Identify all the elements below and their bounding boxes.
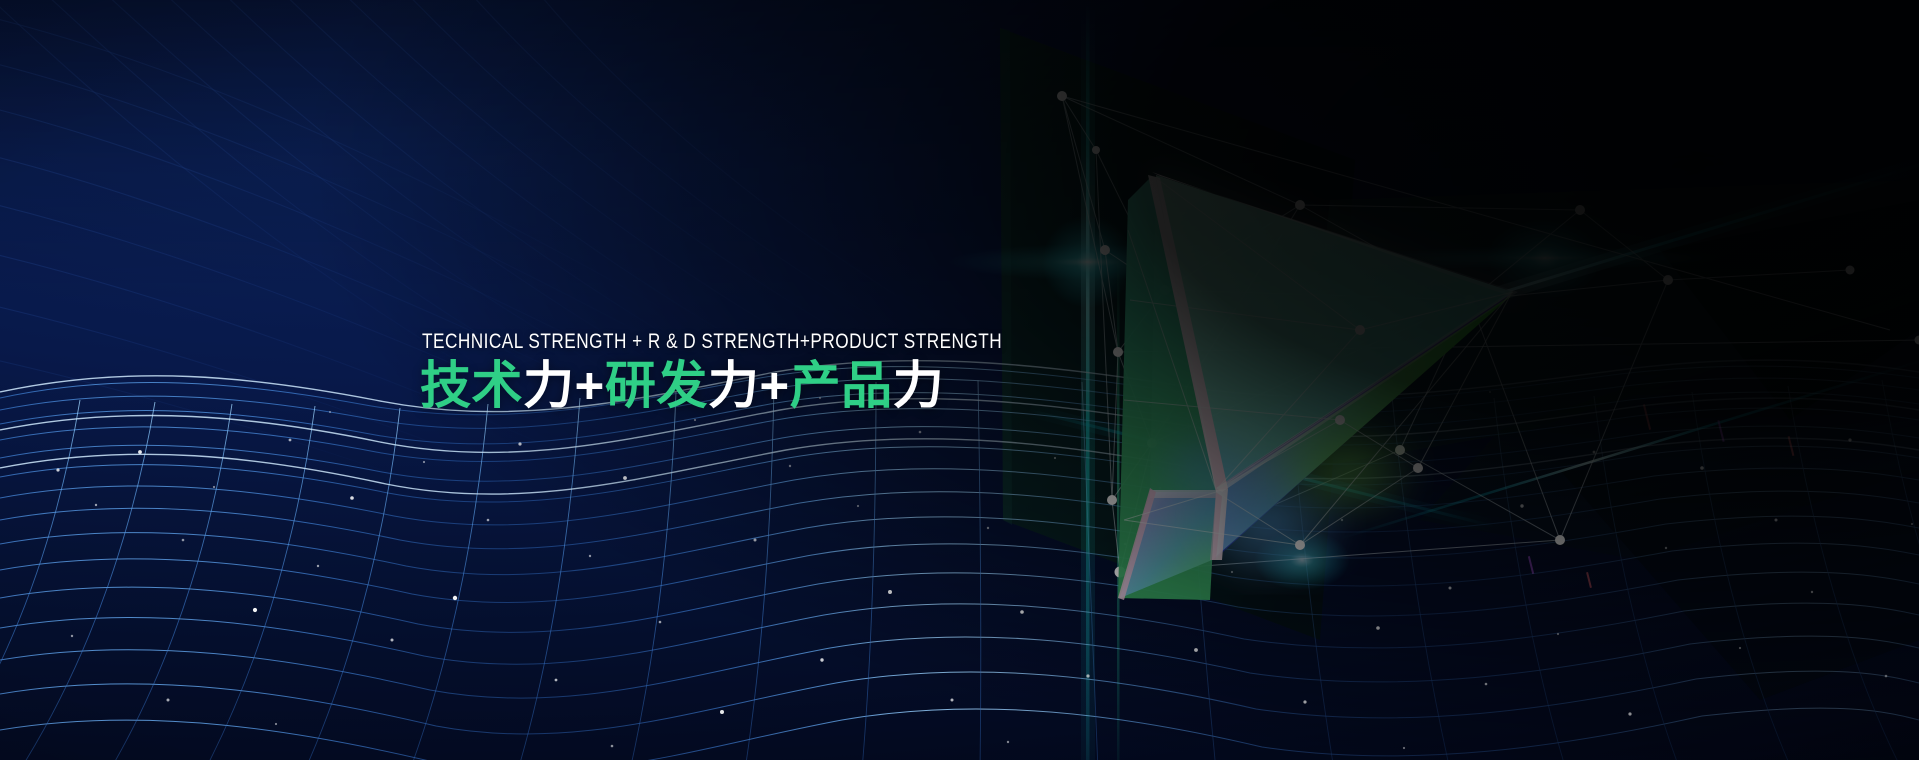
headline-segment-7: 力 — [893, 357, 945, 414]
headline-block: TECHNICAL STRENGTH + R & D STRENGTH+PROD… — [420, 330, 1280, 413]
headline-segment-5: + — [759, 357, 789, 414]
eyebrow-text: TECHNICAL STRENGTH + R & D STRENGTH+PROD… — [422, 330, 1108, 353]
headline-segment-3: 研发 — [605, 357, 708, 414]
headline-segment-6: 产品 — [790, 357, 893, 414]
page-title: 技术力+研发力+产品力 — [420, 359, 1280, 413]
headline-segment-1: 力 — [523, 357, 575, 414]
headline-segment-0: 技术 — [420, 357, 523, 414]
headline-segment-2: + — [575, 357, 605, 414]
headline-segment-4: 力 — [708, 357, 760, 414]
hero-banner: TECHNICAL STRENGTH + R & D STRENGTH+PROD… — [0, 0, 1919, 760]
